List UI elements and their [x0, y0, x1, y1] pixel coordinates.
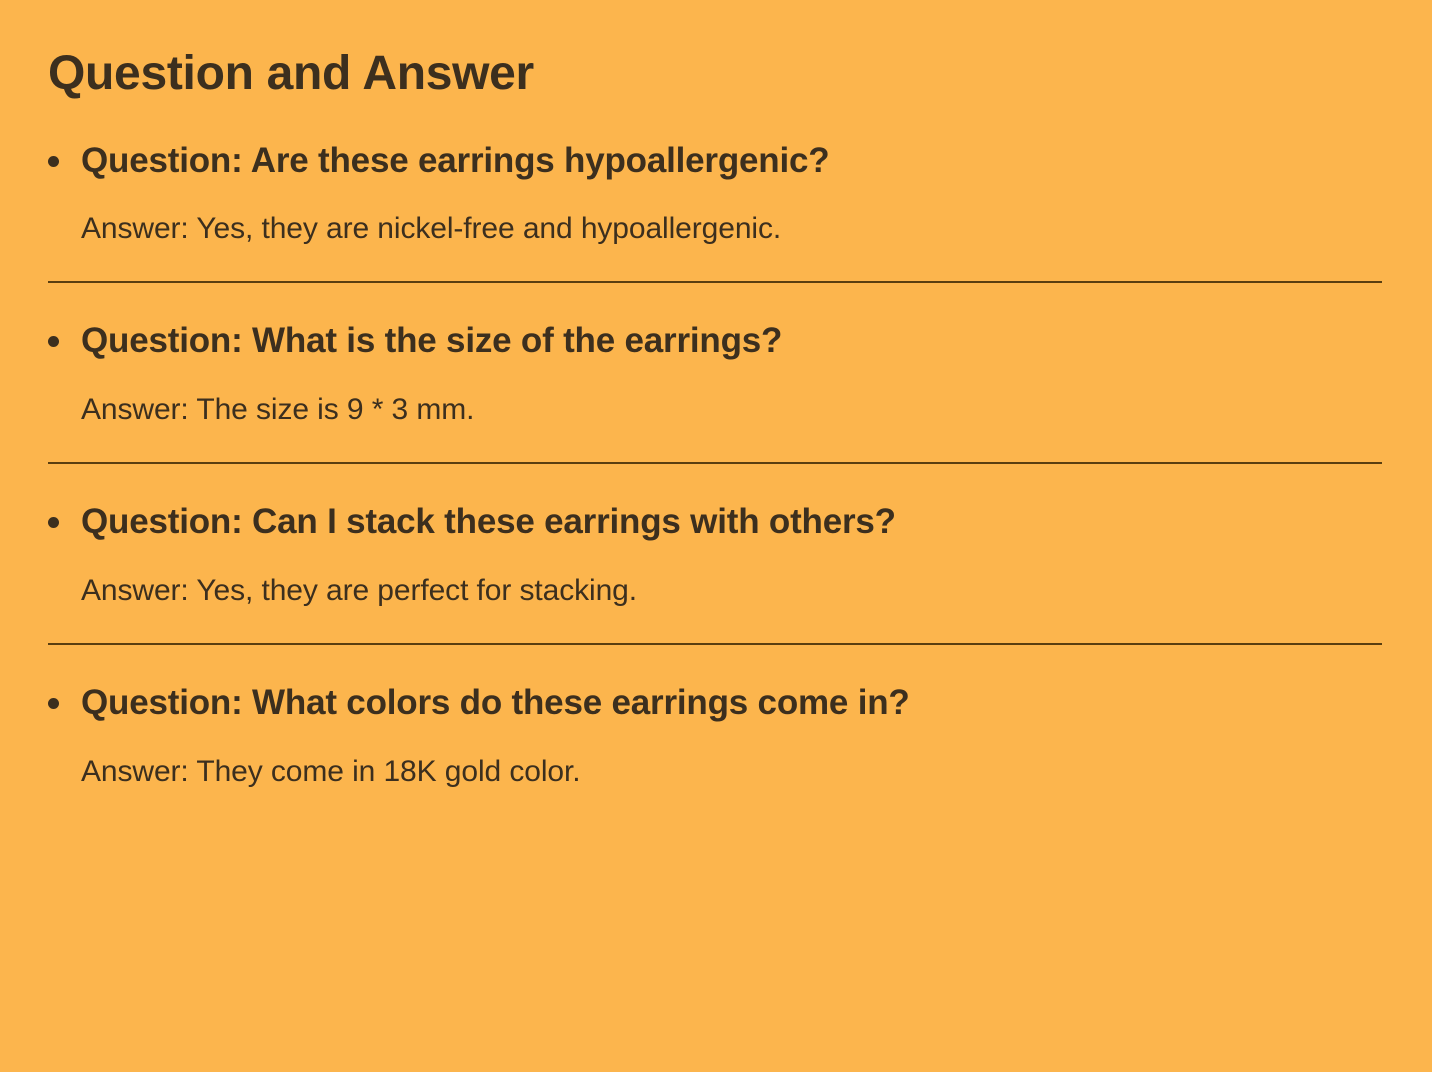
qa-answer-label: Answer: The size is 9 * 3 mm. — [81, 390, 1384, 429]
qa-item: Question: What colors do these earrings … — [48, 681, 1384, 791]
bullet-dot-icon — [48, 156, 59, 167]
qa-question-label: Question: What colors do these earrings … — [81, 681, 910, 725]
qa-question-label: Question: Are these earrings hypoallerge… — [81, 139, 829, 183]
qa-question-label: Question: What is the size of the earrin… — [81, 319, 782, 363]
qa-answer-label: Answer: They come in 18K gold color. — [81, 752, 1384, 791]
page-title: Question and Answer — [48, 0, 1384, 103]
qa-list: Question: Are these earrings hypoallerge… — [48, 139, 1384, 791]
qa-question-row: Question: Can I stack these earrings wit… — [48, 500, 1384, 544]
qa-divider — [48, 643, 1382, 645]
qa-question-label: Question: Can I stack these earrings wit… — [81, 500, 896, 544]
qa-question-row: Question: What is the size of the earrin… — [48, 319, 1384, 363]
question-and-answer-page: Question and Answer Question: Are these … — [0, 0, 1432, 1072]
qa-item: Question: What is the size of the earrin… — [48, 319, 1384, 464]
bullet-dot-icon — [48, 517, 59, 528]
qa-question-row: Question: What colors do these earrings … — [48, 681, 1384, 725]
qa-item: Question: Can I stack these earrings wit… — [48, 500, 1384, 645]
bullet-dot-icon — [48, 698, 59, 709]
qa-answer-label: Answer: Yes, they are nickel-free and hy… — [81, 209, 1384, 248]
qa-item: Question: Are these earrings hypoallerge… — [48, 139, 1384, 284]
qa-question-row: Question: Are these earrings hypoallerge… — [48, 139, 1384, 183]
bullet-dot-icon — [48, 336, 59, 347]
qa-divider — [48, 462, 1382, 464]
qa-divider — [48, 281, 1382, 283]
qa-answer-label: Answer: Yes, they are perfect for stacki… — [81, 571, 1384, 610]
